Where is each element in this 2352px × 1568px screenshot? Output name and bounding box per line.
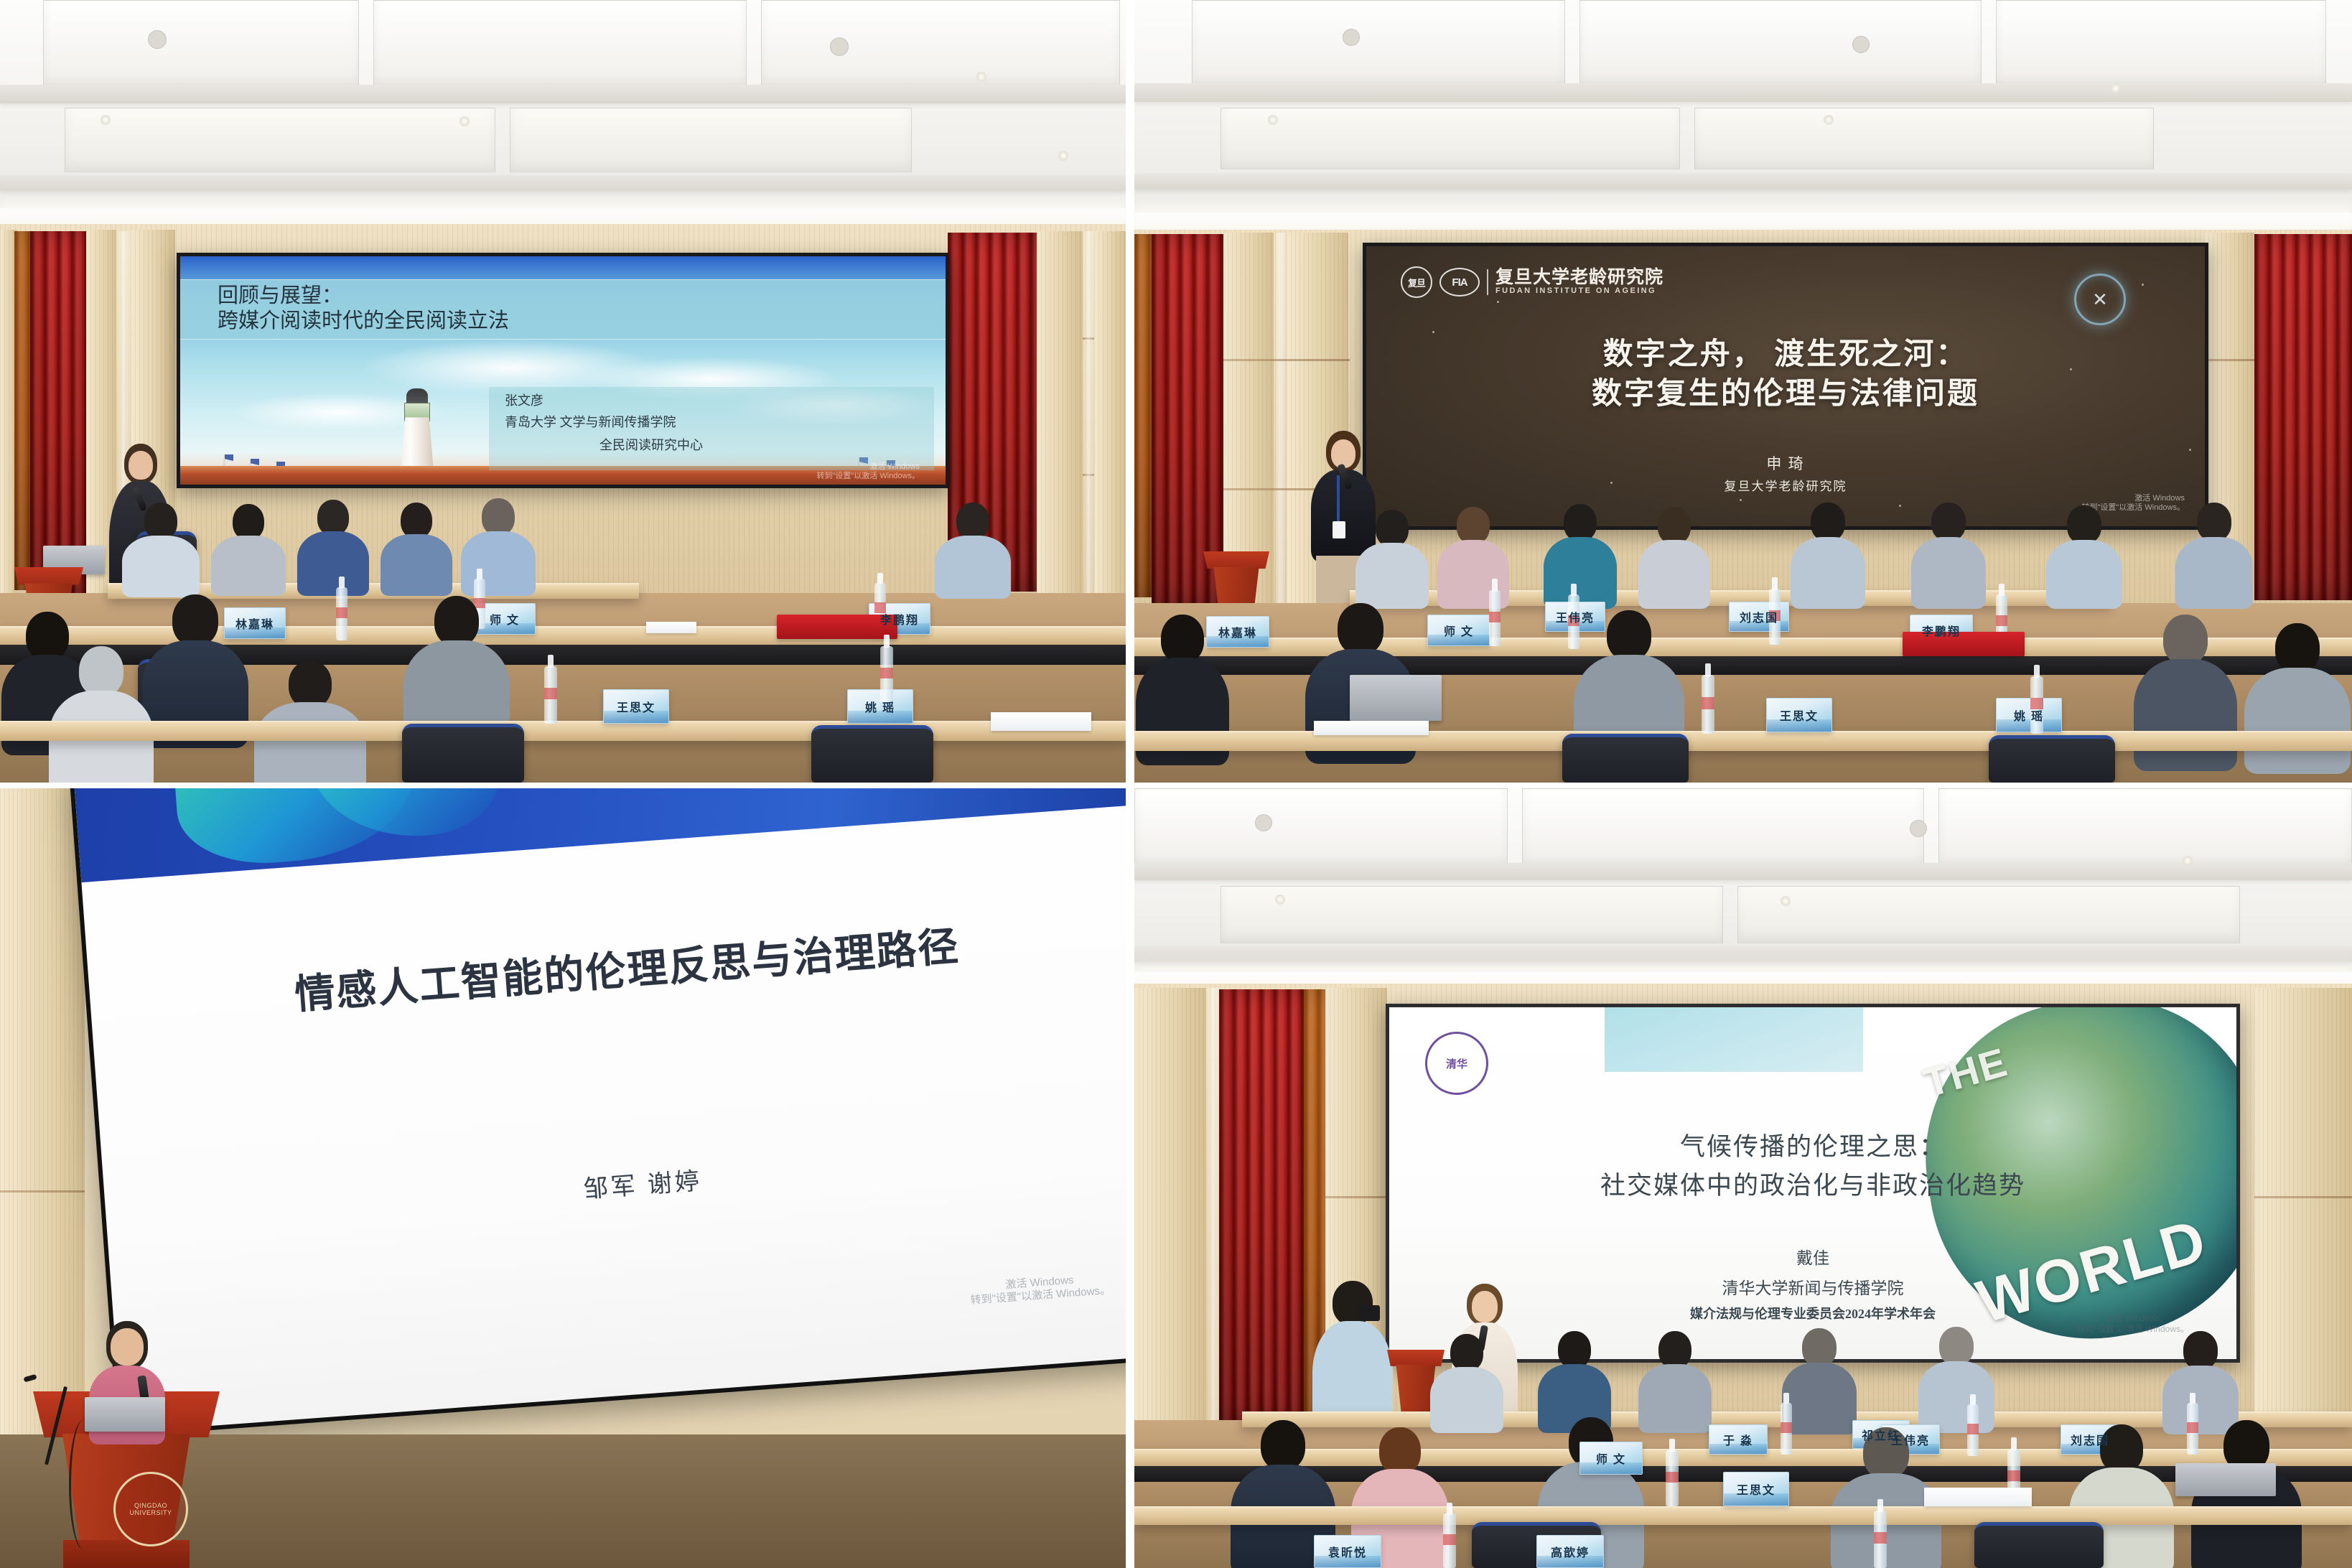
slide-emotional-ai: 情感人工智能的伦理反思与治理路径 邹军 谢婷 激活 Windows 转到"设置"… [73, 788, 1126, 1432]
tsinghua-seal-icon: 清华 [1425, 1032, 1488, 1095]
conference-room-scene-tl: 回顾与展望： 跨媒介阅读时代的全民阅读立法 张文彦 [0, 0, 1126, 783]
slide-lighthouse-affiliation-1: 青岛大学 文学与新闻传播学院 [505, 413, 676, 431]
name-card: 王思文 [1723, 1472, 1789, 1506]
curtain-right-tr [2254, 234, 2352, 600]
name-card: 王思文 [603, 689, 669, 724]
name-card-label: 王思文 [1737, 1480, 1775, 1498]
name-card-label: 师 文 [490, 610, 520, 627]
name-card: 于 淼 [1709, 1424, 1768, 1455]
slide-lighthouse: 回顾与展望： 跨媒介阅读时代的全民阅读立法 张文彦 [180, 256, 946, 485]
name-card-label: 李鹏翔 [880, 610, 919, 627]
name-card-label: 师 文 [1596, 1450, 1626, 1467]
fudan-logo-cn: 复旦大学老龄研究院 [1495, 269, 1663, 287]
name-card-label: 王伟亮 [1556, 608, 1595, 625]
podium-emblem-bl: QINGDAO UNIVERSITY [113, 1472, 188, 1546]
photo-collage: 回顾与展望： 跨媒介阅读时代的全民阅读立法 张文彦 [0, 0, 2352, 1568]
curtain-left-tl [30, 231, 89, 597]
name-card-label: 姚 瑶 [865, 698, 895, 715]
curtain-left-br [1219, 989, 1311, 1423]
slide-dark-fudan: 复旦 FIA 复旦大学老龄研究院 FUDAN INSTITUTE ON AGEI… [1366, 246, 2205, 526]
windows-watermark-bl: 激活 Windows 转到"设置"以激活 Windows。 [969, 1271, 1111, 1308]
name-card-label: 王思文 [1780, 706, 1819, 724]
projection-screen-tr: 复旦 FIA 复旦大学老龄研究院 FUDAN INSTITUTE ON AGEI… [1363, 243, 2208, 530]
slide-dark-affiliation: 复旦大学老龄研究院 [1366, 477, 2205, 496]
fudan-logo-group: 复旦 FIA 复旦大学老龄研究院 FUDAN INSTITUTE ON AGEI… [1401, 266, 1663, 298]
projection-screen-tl: 回顾与展望： 跨媒介阅读时代的全民阅读立法 张文彦 [177, 253, 949, 488]
panel-bottom-left: 情感人工智能的伦理反思与治理路径 邹军 谢婷 激活 Windows 转到"设置"… [0, 788, 1126, 1568]
logo-divider [1487, 269, 1488, 295]
name-card: 袁昕悦 [1314, 1535, 1381, 1568]
panel-bottom-right: WORLD THE 清华 气候传播的伦理之思： 社交媒体中的政治化与非政治化趋势… [1134, 788, 2352, 1568]
name-card-label: 刘志国 [2071, 1431, 2109, 1448]
name-card: 姚 瑶 [1996, 698, 2062, 732]
conference-room-scene-bl: 情感人工智能的伦理反思与治理路径 邹军 谢婷 激活 Windows 转到"设置"… [0, 788, 1126, 1568]
camera-icon [1358, 1305, 1380, 1321]
curtain-left-tr [1152, 234, 1225, 605]
slide-climate-title: 气候传播的伦理之思： 社交媒体中的政治化与非政治化趋势 [1389, 1128, 2236, 1206]
name-card-label: 林嘉琳 [235, 615, 274, 632]
name-card-label: 袁昕悦 [1328, 1543, 1367, 1560]
fudan-university-seal-icon: 复旦 [1401, 266, 1432, 298]
name-card: 师 文 [1579, 1442, 1643, 1475]
ceiling-tr [1134, 0, 2352, 244]
name-card-label: 姚 瑶 [2014, 706, 2044, 724]
name-card-label: 于 淼 [1723, 1431, 1753, 1448]
slide-climate-author: 戴佳 [1389, 1244, 2236, 1272]
slide-lighthouse-affiliation-2: 全民阅读研究中心 [599, 436, 703, 454]
name-card: 王思文 [1766, 698, 1832, 732]
conference-room-scene-br: WORLD THE 清华 气候传播的伦理之思： 社交媒体中的政治化与非政治化趋势… [1134, 788, 2352, 1568]
decorative-ring-icon: ✕ [2074, 274, 2126, 325]
name-card-label: 王伟亮 [1891, 1431, 1930, 1448]
slide-dark-author: 申 琦 [1366, 453, 2205, 476]
name-card-label: 王思文 [617, 698, 655, 715]
slide-emotional-ai-authors: 邹军 谢婷 [105, 1126, 1126, 1240]
panel-top-right: 复旦 FIA 复旦大学老龄研究院 FUDAN INSTITUTE ON AGEI… [1134, 0, 2352, 783]
panel-top-left: 回顾与展望： 跨媒介阅读时代的全民阅读立法 张文彦 [0, 0, 1126, 783]
name-card-label: 林嘉琳 [1218, 623, 1257, 640]
name-card: 高歆婷 [1536, 1535, 1604, 1568]
name-card: 师 文 [1427, 615, 1490, 646]
name-card-label: 李鹏翔 [1922, 622, 1961, 639]
ceiling-tl [0, 0, 1126, 237]
slide-emotional-ai-title: 情感人工智能的伦理反思与治理路径 [89, 905, 1126, 1036]
slide-dark-title: 数字之舟， 渡生死之河： 数字复生的伦理与法律问题 [1366, 335, 2205, 415]
name-card-label: 刘志国 [1740, 608, 1778, 625]
name-card-label: 师 文 [1444, 622, 1474, 639]
fudan-logo-en: FUDAN INSTITUTE ON AGEING [1495, 287, 1663, 296]
slide-lighthouse-author: 张文彦 [505, 391, 543, 410]
ceiling-br [1134, 788, 2352, 997]
name-card-label: 高歆婷 [1551, 1543, 1590, 1560]
slide-lighthouse-title: 回顾与展望： 跨媒介阅读时代的全民阅读立法 [218, 284, 509, 335]
conference-room-scene-tr: 复旦 FIA 复旦大学老龄研究院 FUDAN INSTITUTE ON AGEI… [1134, 0, 2352, 783]
projection-screen-bl: 情感人工智能的伦理反思与治理路径 邹军 谢婷 激活 Windows 转到"设置"… [69, 788, 1126, 1437]
fia-seal-icon: FIA [1439, 268, 1480, 297]
